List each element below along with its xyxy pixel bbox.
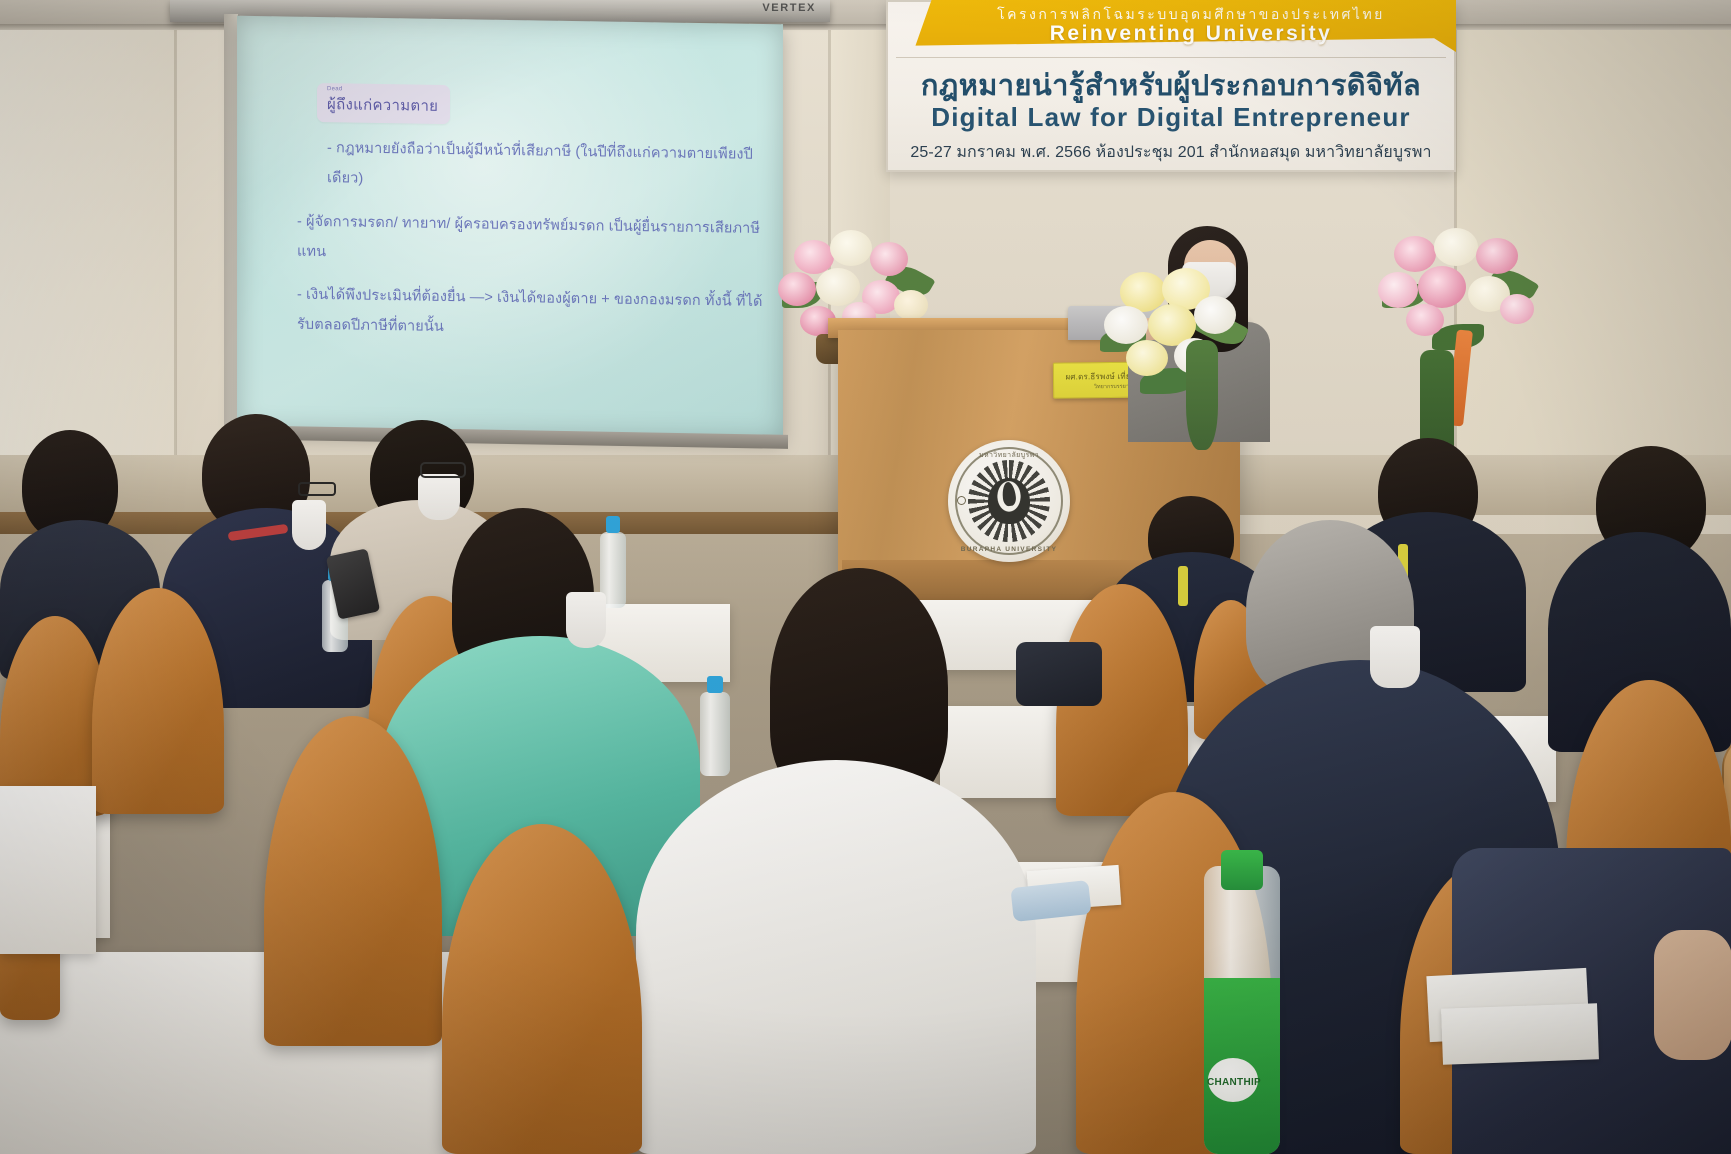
screen-frame-left [224, 14, 238, 444]
banner-subtitle: 25-27 มกราคม พ.ศ. 2566 ห้องประชุม 201 สำ… [886, 140, 1456, 165]
attendee-torso [636, 760, 1036, 1154]
flower-petal [870, 242, 908, 276]
flower-petal [1126, 340, 1168, 376]
flower-petal [1418, 266, 1466, 308]
flower-petal [1394, 236, 1436, 272]
attendee-glasses-icon [420, 462, 466, 478]
attendee-arm [1654, 930, 1731, 1060]
flower-petal [894, 290, 928, 320]
slide-bullet-3: - เงินได้พึงประเมินที่ต้องยื่น —> เงินได… [297, 280, 767, 347]
flower-petal [1406, 304, 1444, 336]
flower-petal [1434, 228, 1478, 266]
wall-seam-1 [174, 26, 177, 506]
flower-petal [1500, 294, 1534, 324]
flower-petal [1104, 306, 1148, 344]
presentation-slide: Dead ผู้ถึงแก่ความตาย - กฎหมายยังถือว่าเ… [237, 16, 783, 440]
emblem-mark-icon [957, 496, 966, 505]
water-bottle-chanthip[interactable]: CHANTHIP [1204, 850, 1280, 1154]
attendee-logo-badge [1178, 566, 1188, 606]
banner-divider [896, 57, 1446, 58]
attendee-face-mask [292, 500, 326, 550]
bottle-brand-text: CHANTHIP [1206, 1077, 1262, 1088]
table-block-front-left [0, 786, 96, 954]
wall-panel-left [0, 26, 176, 496]
flower-petal [778, 272, 816, 306]
flower-petal [816, 268, 860, 306]
slide-bullet-2: - ผู้จัดการมรดก/ ทายาท/ ผู้ครอบครองทรัพย… [297, 207, 767, 274]
emblem-ring [955, 447, 1063, 555]
slide-heading-chip: Dead ผู้ถึงแก่ความตาย [317, 83, 450, 124]
attendee-face-mask [566, 592, 606, 648]
backpack [1016, 642, 1102, 706]
emblem-text-bottom: BURAPHA UNIVERSITY [948, 546, 1070, 553]
bottle-body [700, 692, 730, 776]
slide-heading-superscript: Dead [327, 87, 438, 94]
event-banner: โครงการพลิกโฉมระบบอุดมศึกษาของประเทศไทย … [886, 0, 1456, 172]
greenery-trail-center [1186, 340, 1218, 450]
flower-petal [1476, 238, 1518, 274]
projection-screen: Dead ผู้ถึงแก่ความตาย - กฎหมายยังถือว่าเ… [237, 16, 783, 440]
flower-arrangement-center [1100, 268, 1250, 398]
document-paper-right-2[interactable] [1441, 1003, 1599, 1064]
flower-petal [1378, 272, 1418, 308]
slide-bullet-1: - กฎหมายยังถือว่าเป็นผู้มีหน้าที่เสียภาษ… [327, 133, 767, 200]
flower-petal [1194, 296, 1236, 334]
slide-heading-text: ผู้ถึงแก่ความตาย [327, 96, 438, 115]
attendee-glasses-icon [298, 482, 336, 496]
attendee-face-mask [418, 474, 460, 520]
water-bottle-blue-3[interactable] [700, 676, 730, 776]
banner-title-english: Digital Law for Digital Entrepreneur [886, 102, 1456, 133]
flower-petal [830, 230, 872, 266]
banner-ribbon-english: Reinventing University [956, 22, 1426, 46]
projector-brand-label: VERTEX [762, 2, 816, 14]
bottle-cap [606, 516, 621, 533]
bottle-cap [707, 676, 724, 693]
emblem-text-top: มหาวิทยาลัยบูรพา [948, 450, 1070, 461]
attendee-face-mask [1370, 626, 1420, 688]
bottle-cap [1221, 850, 1264, 890]
university-emblem: มหาวิทยาลัยบูรพา BURAPHA UNIVERSITY [948, 440, 1070, 562]
seminar-photo: VERTEX Dead ผู้ถึงแก่ความตาย - กฎหมายยัง… [0, 0, 1731, 1154]
